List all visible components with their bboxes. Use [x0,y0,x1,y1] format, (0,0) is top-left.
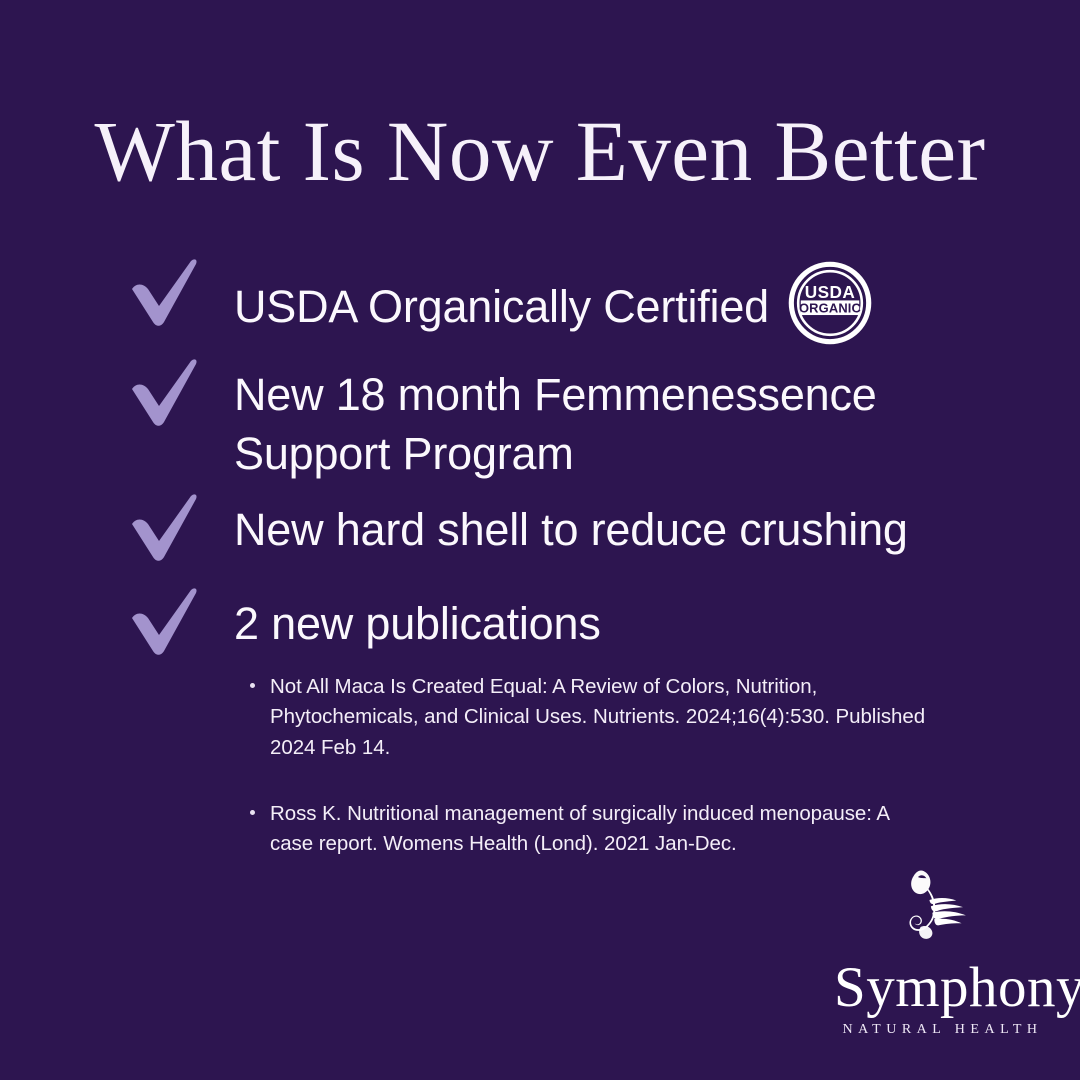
list-item-content: USDA Organically Certified USDA ORGANIC [234,262,873,348]
checkmark-icon [128,585,206,661]
list-item-label: USDA Organically Certified [234,274,769,337]
citation-item: Not All Maca Is Created Equal: A Review … [248,672,928,763]
list-item-label: 2 new publications [234,591,601,654]
brand-logo: Symphony NATURAL HEALTH [834,865,1046,1038]
checkmark-icon [128,356,206,432]
list-item: USDA Organically Certified USDA ORGANIC [128,262,988,348]
bullet-icon [250,810,255,815]
checkmark-icon [128,256,206,332]
list-item: 2 new publications [128,591,988,667]
list-item-label: New 18 month Femmenessence Support Progr… [234,362,914,483]
page-title: What Is Now Even Better [5,108,1074,194]
svg-text:ORGANIC: ORGANIC [799,300,861,315]
leaf-ornament-icon [892,865,988,957]
feature-checklist: USDA Organically Certified USDA ORGANIC [128,262,988,685]
citation-text: Not All Maca Is Created Equal: A Review … [270,675,925,759]
logo-tagline: NATURAL HEALTH [834,1022,1046,1038]
logo-wordmark: Symphony [834,959,1046,1016]
list-item: New hard shell to reduce crushing [128,497,988,573]
slide-canvas: What Is Now Even Better USDA Organically… [0,0,1080,1080]
citation-text: Ross K. Nutritional management of surgic… [270,802,889,855]
list-item-label: New hard shell to reduce crushing [234,497,908,560]
citation-item: Ross K. Nutritional management of surgic… [248,799,928,860]
bullet-icon [250,683,255,688]
svg-text:USDA: USDA [805,282,855,302]
list-item: New 18 month Femmenessence Support Progr… [128,362,988,483]
usda-organic-seal-icon: USDA ORGANIC [787,260,873,346]
checkmark-icon [128,491,206,567]
citation-list: Not All Maca Is Created Equal: A Review … [248,672,928,860]
